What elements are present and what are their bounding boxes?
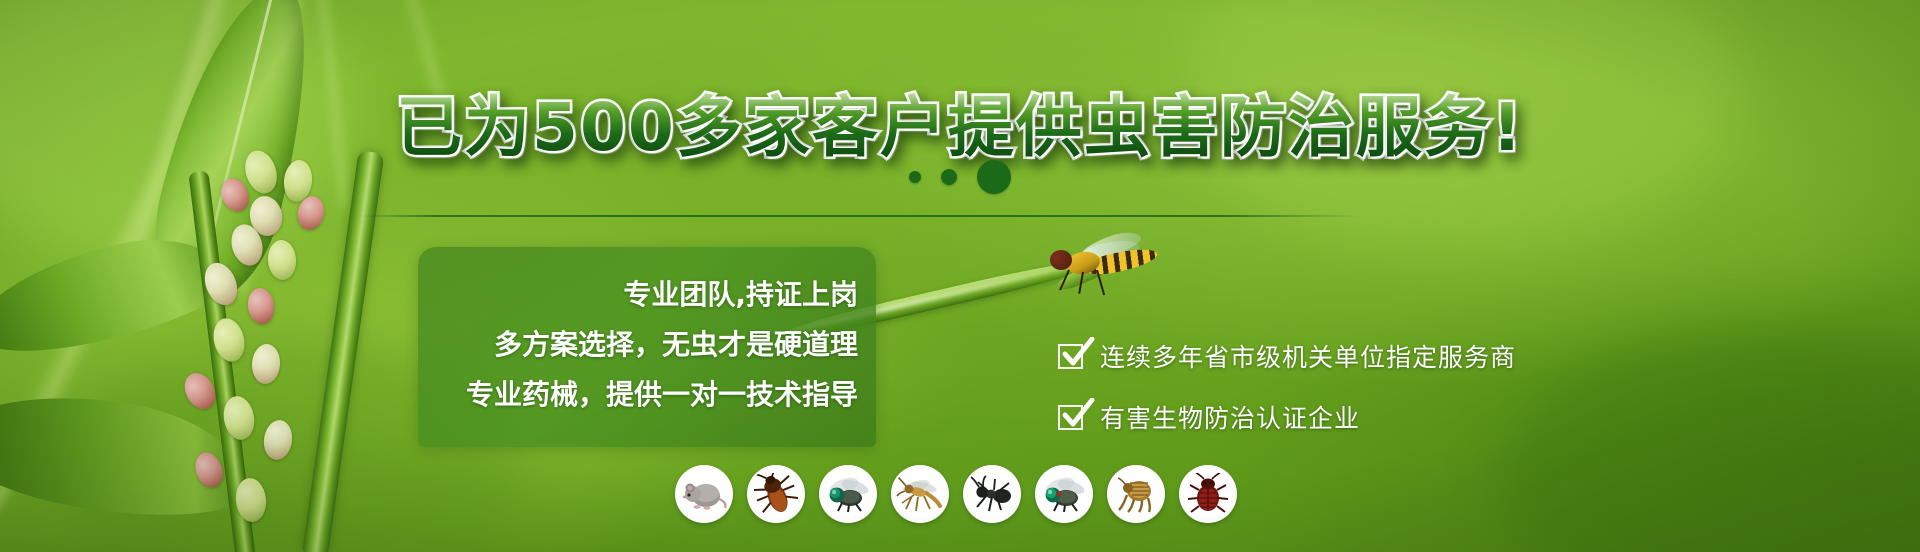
panel-line-1: 专业团队,持证上岗 (418, 281, 858, 331)
cockroach-icon[interactable] (747, 465, 805, 523)
bedbug-icon[interactable] (1179, 465, 1237, 523)
list-item-label: 连续多年省市级机关单位指定服务商 (1100, 338, 1516, 374)
dot-medium-icon (941, 169, 957, 185)
hoverfly-head (1050, 250, 1072, 270)
features-panel: 专业团队,持证上岗 多方案选择，无虫才是硬道理 专业药械，提供一对一技术指导 (418, 247, 876, 447)
ant-icon[interactable] (963, 465, 1021, 523)
promo-banner: 已为500多家客户提供虫害防治服务! 已为500多家客户提供虫害防治服务! 专业… (0, 0, 1920, 552)
dot-large-icon (977, 160, 1011, 194)
checkbox-check-icon (1058, 342, 1086, 370)
decor-dots-row (0, 160, 1920, 194)
checkbox-check-icon (1058, 403, 1086, 431)
mouse-icon[interactable] (675, 465, 733, 523)
list-item: 有害生物防治认证企业 (1058, 399, 1516, 435)
list-item-label: 有害生物防治认证企业 (1100, 399, 1360, 435)
hoverfly-icon (1028, 238, 1158, 290)
divider (360, 215, 1360, 217)
dot-small-icon (909, 171, 921, 183)
credentials-list: 连续多年省市级机关单位指定服务商 有害生物防治认证企业 (1058, 338, 1516, 435)
hoverfly-leg (1059, 270, 1070, 291)
flea-icon[interactable] (1107, 465, 1165, 523)
pest-icon-row (675, 465, 1237, 523)
mosquito-icon[interactable] (891, 465, 949, 523)
blowfly-icon[interactable] (1035, 465, 1093, 523)
fly-icon[interactable] (819, 465, 877, 523)
panel-line-3: 专业药械，提供一对一技术指导 (418, 381, 858, 409)
panel-line-2: 多方案选择，无虫才是硬道理 (418, 331, 858, 381)
list-item: 连续多年省市级机关单位指定服务商 (1058, 338, 1516, 374)
page-title: 已为500多家客户提供虫害防治服务! (0, 74, 1920, 170)
